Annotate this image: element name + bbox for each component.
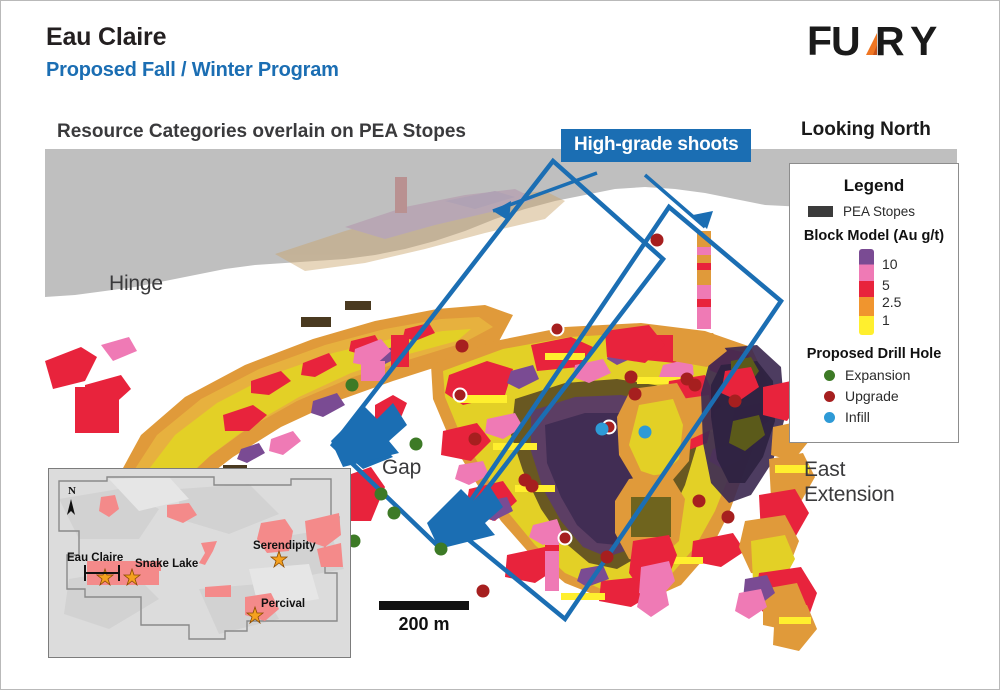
legend-row-pea-stopes: PEA Stopes bbox=[808, 204, 958, 219]
pea-stope-label: PEA Stopes bbox=[843, 204, 915, 219]
fury-logo: F U R Y bbox=[807, 19, 957, 63]
inset-label-serendipity: Serendipity bbox=[253, 540, 316, 552]
ramp-tick-2-5: 2.5 bbox=[882, 294, 901, 310]
scale-bar-line bbox=[379, 601, 469, 610]
scale-bar-label: 200 m bbox=[379, 614, 469, 635]
direction-arrow-lower bbox=[427, 485, 503, 549]
orientation-label: Looking North bbox=[801, 119, 931, 141]
map-caption: Resource Categories overlain on PEA Stop… bbox=[57, 121, 466, 143]
legend-row-expansion: Expansion bbox=[824, 367, 958, 383]
ramp-tick-1: 1 bbox=[882, 312, 890, 328]
block-model-color-ramp bbox=[859, 249, 874, 335]
slide-page: Eau Claire Proposed Fall / Winter Progra… bbox=[0, 0, 1000, 690]
legend-row-upgrade: Upgrade bbox=[824, 388, 958, 404]
expansion-dot bbox=[824, 370, 835, 381]
page-title: Eau Claire bbox=[46, 23, 166, 52]
ramp-tick-5: 5 bbox=[882, 277, 890, 293]
block-model-title: Block Model (Au g/t) bbox=[790, 228, 958, 244]
svg-text:U: U bbox=[831, 19, 860, 63]
block-model-ramp-wrap: 10 5 2.5 1 bbox=[790, 249, 958, 339]
svg-text:F: F bbox=[807, 19, 831, 63]
expansion-label: Expansion bbox=[845, 367, 910, 383]
area-label-east-extension: East Extension bbox=[804, 457, 894, 507]
legend-title: Legend bbox=[790, 176, 958, 196]
inset-location-map: N Eau Claire Snake Lake Serendipity Perc… bbox=[48, 468, 351, 658]
upgrade-dot bbox=[824, 391, 835, 402]
inset-label-snake-lake: Snake Lake bbox=[135, 558, 198, 570]
legend-row-infill: Infill bbox=[824, 409, 958, 425]
area-label-hinge: Hinge bbox=[109, 272, 163, 296]
pea-stope-swatch bbox=[808, 206, 833, 217]
infill-dot bbox=[824, 412, 835, 423]
area-label-east-line1: East bbox=[804, 457, 894, 482]
inset-label-percival: Percival bbox=[261, 598, 305, 610]
svg-text:N: N bbox=[68, 485, 76, 497]
svg-text:Y: Y bbox=[910, 19, 937, 63]
upgrade-label: Upgrade bbox=[845, 388, 899, 404]
infill-label: Infill bbox=[845, 409, 870, 425]
area-label-east-line2: Extension bbox=[804, 482, 894, 507]
legend-panel: Legend PEA Stopes Block Model (Au g/t) 1… bbox=[789, 163, 959, 443]
area-label-gap: Gap bbox=[382, 456, 421, 480]
svg-text:R: R bbox=[875, 19, 904, 63]
inset-label-eau-claire: Eau Claire bbox=[67, 552, 123, 564]
high-grade-shoots-callout: High-grade shoots bbox=[561, 129, 751, 162]
drill-hole-title: Proposed Drill Hole bbox=[790, 346, 958, 362]
page-subtitle: Proposed Fall / Winter Program bbox=[46, 59, 339, 82]
scale-bar: 200 m bbox=[379, 601, 469, 635]
ramp-tick-10: 10 bbox=[882, 256, 898, 272]
